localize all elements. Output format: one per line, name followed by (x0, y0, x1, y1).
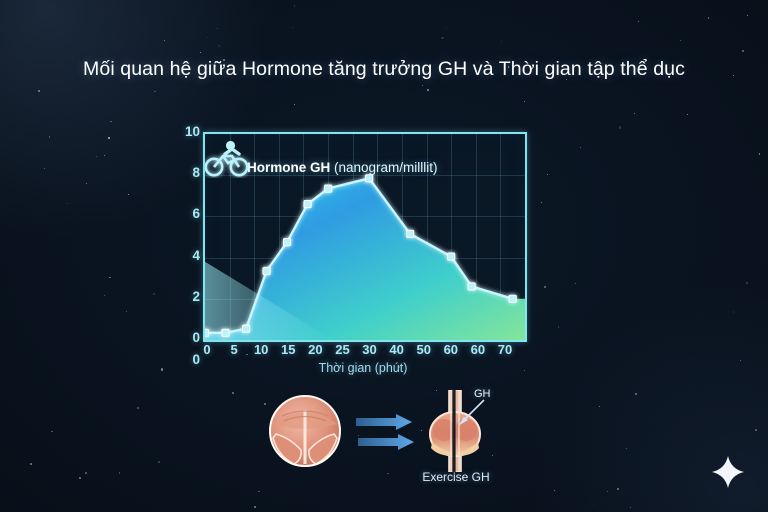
star (558, 326, 560, 328)
x-tick-label: 30 (362, 342, 376, 357)
star (422, 85, 423, 86)
gh-time-chart: 10864200 (180, 120, 540, 380)
chart-data-point[interactable] (448, 253, 455, 260)
star (164, 40, 166, 42)
x-tick-label: 40 (389, 342, 403, 357)
star (441, 37, 443, 39)
x-tick-label: 0 (203, 342, 210, 357)
star (740, 360, 741, 361)
chart-data-point[interactable] (205, 329, 209, 336)
star (51, 431, 52, 432)
star (218, 45, 220, 47)
star (44, 168, 45, 169)
x-tick-label: 15 (281, 342, 295, 357)
gh-label: GH (474, 388, 491, 400)
star (446, 27, 447, 28)
star (638, 21, 639, 22)
star (67, 203, 68, 204)
y-axis-origin-label: 0 (180, 352, 200, 367)
chart-data-point[interactable] (283, 239, 290, 246)
star (501, 41, 502, 42)
x-tick-label: 60 (444, 342, 458, 357)
y-tick-label: 6 (180, 206, 200, 221)
star (158, 461, 160, 463)
x-tick-label: 10 (254, 342, 268, 357)
x-axis-labels: 0510152025304050606070 (203, 340, 523, 360)
legend-title: Hormone GH (247, 160, 330, 175)
star (161, 368, 163, 370)
chart-data-point[interactable] (407, 230, 414, 237)
star (619, 126, 621, 128)
muscle-cross-section-icon (268, 394, 342, 468)
star (79, 477, 81, 479)
legend-units: (nanogram/milllit) (330, 160, 437, 175)
y-tick-label: 8 (180, 165, 200, 180)
star (524, 101, 525, 102)
star (154, 91, 156, 93)
chart-data-point[interactable] (509, 295, 516, 302)
star (109, 277, 111, 279)
star (541, 202, 542, 203)
star (294, 104, 295, 105)
star (104, 155, 105, 156)
star (294, 5, 296, 7)
x-tick-label: 25 (335, 342, 349, 357)
star (580, 147, 581, 148)
chart-data-point[interactable] (324, 185, 331, 192)
biology-diagram: GH Exercise GH (262, 388, 512, 488)
star (119, 472, 120, 473)
star (755, 429, 757, 431)
star (759, 153, 760, 154)
chart-data-point[interactable] (304, 200, 311, 207)
star (207, 37, 208, 38)
star (746, 282, 748, 284)
star (49, 136, 51, 138)
star (137, 407, 139, 409)
star (104, 295, 105, 296)
star (153, 293, 154, 294)
star (427, 89, 429, 91)
star (38, 90, 39, 91)
x-tick-label: 5 (230, 342, 237, 357)
star (617, 488, 618, 489)
star (742, 50, 743, 51)
cyclist-icon (205, 134, 251, 178)
star (680, 40, 681, 41)
star (200, 52, 201, 53)
star (626, 448, 627, 449)
star (30, 463, 32, 465)
chart-data-point[interactable] (468, 283, 475, 290)
star (687, 114, 688, 115)
exercise-gh-caption: Exercise GH (396, 470, 516, 484)
star (110, 121, 111, 122)
star (575, 283, 576, 284)
star (593, 505, 594, 506)
chart-data-point[interactable] (242, 325, 249, 332)
double-arrow-right-icon (356, 414, 418, 450)
star (232, 392, 234, 394)
star (217, 28, 218, 29)
star (630, 507, 631, 508)
y-tick-label: 2 (180, 289, 200, 304)
star (634, 113, 635, 114)
star (86, 183, 87, 184)
star (108, 137, 109, 138)
gh-pointer-arrow (452, 398, 486, 428)
sparkle-icon (712, 456, 744, 488)
star (733, 311, 735, 313)
chart-plot-area: Hormone GH (nanogram/milllit) (203, 132, 527, 342)
star (254, 506, 256, 508)
star (747, 15, 748, 16)
star (96, 156, 97, 157)
star (258, 491, 259, 492)
y-tick-label: 4 (180, 248, 200, 263)
x-tick-label: 60 (471, 342, 485, 357)
x-tick-label: 50 (416, 342, 430, 357)
star (128, 194, 129, 195)
x-tick-label: 20 (308, 342, 322, 357)
y-axis-labels: 10864200 (178, 120, 200, 352)
star (547, 174, 548, 175)
star (554, 490, 555, 491)
y-tick-label: 10 (180, 124, 200, 139)
star (126, 311, 127, 312)
x-tick-label: 70 (498, 342, 512, 357)
star (544, 286, 546, 288)
star (607, 491, 608, 492)
chart-data-point[interactable] (263, 267, 270, 274)
x-axis-title: Thời gian (phút) (203, 361, 523, 375)
chart-data-point[interactable] (222, 329, 229, 336)
star (635, 393, 637, 395)
star (85, 472, 87, 474)
y-tick-label: 0 (180, 330, 200, 345)
slide-canvas: Mối quan hệ giữa Hormone tăng trưởng GH … (0, 0, 768, 512)
page-title: Mối quan hệ giữa Hormone tăng trưởng GH … (0, 58, 768, 81)
chart-data-point[interactable] (366, 175, 373, 182)
star (599, 406, 600, 407)
star (292, 27, 293, 28)
star (708, 17, 710, 19)
chart-legend: Hormone GH (nanogram/milllit) (247, 160, 438, 175)
